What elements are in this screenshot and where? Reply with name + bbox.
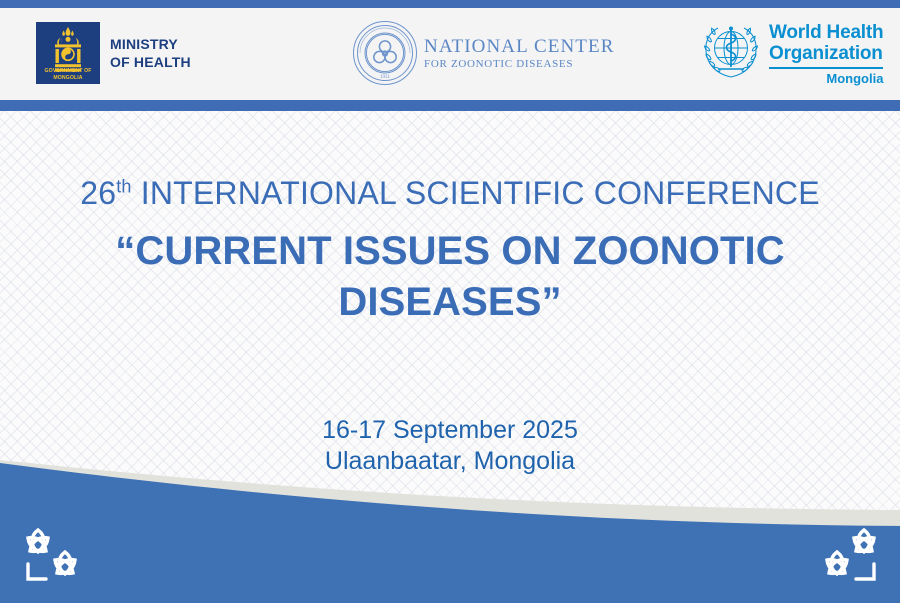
theme-line-2: DISEASES” — [0, 277, 900, 328]
bottom-wave-decoration — [0, 440, 900, 603]
mongolian-knot-ornament-left — [16, 524, 90, 588]
ministry-of-health-logo: GOVERNMENT OF MONGOLIA MINISTRY OF HEALT… — [36, 22, 191, 84]
ministry-name-line1: MINISTRY — [110, 35, 191, 53]
who-name-line1: World Health — [769, 22, 883, 43]
emblem-caption-line1: GOVERNMENT OF — [36, 68, 100, 74]
soyombo-emblem: GOVERNMENT OF MONGOLIA — [36, 22, 100, 84]
national-center-line1: NATIONAL CENTER — [424, 36, 614, 57]
who-underline — [769, 67, 883, 69]
national-center-logo: 1931 NATIONAL CENTER FOR ZOONOTIC DISEAS… — [352, 20, 614, 86]
conference-line: 26th INTERNATIONAL SCIENTIFIC CONFERENCE — [0, 172, 900, 214]
emblem-caption-line2: MONGOLIA — [36, 75, 100, 81]
conference-ordinal-suffix: th — [116, 176, 131, 196]
national-center-name: NATIONAL CENTER FOR ZOONOTIC DISEASES — [424, 36, 614, 71]
top-accent-bar — [0, 0, 900, 8]
header-divider-bar — [0, 100, 900, 111]
zoonotic-seal-icon: 1931 — [352, 20, 418, 86]
who-name-block: World Health Organization Mongolia — [769, 20, 883, 86]
who-name-line2: Organization — [769, 43, 883, 64]
conference-number: 26 — [80, 175, 116, 211]
conference-line-text: INTERNATIONAL SCIENTIFIC CONFERENCE — [132, 175, 820, 211]
mongolian-knot-ornament-right — [812, 524, 886, 588]
ministry-of-health-name: MINISTRY OF HEALTH — [110, 35, 191, 71]
emblem-caption: GOVERNMENT OF MONGOLIA — [36, 68, 100, 81]
title-block: 26th INTERNATIONAL SCIENTIFIC CONFERENCE… — [0, 172, 900, 328]
national-center-line2: FOR ZOONOTIC DISEASES — [424, 57, 614, 71]
who-emblem-icon — [700, 20, 762, 82]
who-country-label: Mongolia — [769, 71, 883, 86]
who-logo: World Health Organization Mongolia — [700, 20, 883, 86]
conference-slide: GOVERNMENT OF MONGOLIA MINISTRY OF HEALT… — [0, 0, 900, 603]
ministry-name-line2: OF HEALTH — [110, 53, 191, 71]
theme-line-1: “CURRENT ISSUES ON ZOONOTIC — [0, 226, 900, 277]
svg-text:1931: 1931 — [380, 75, 391, 80]
